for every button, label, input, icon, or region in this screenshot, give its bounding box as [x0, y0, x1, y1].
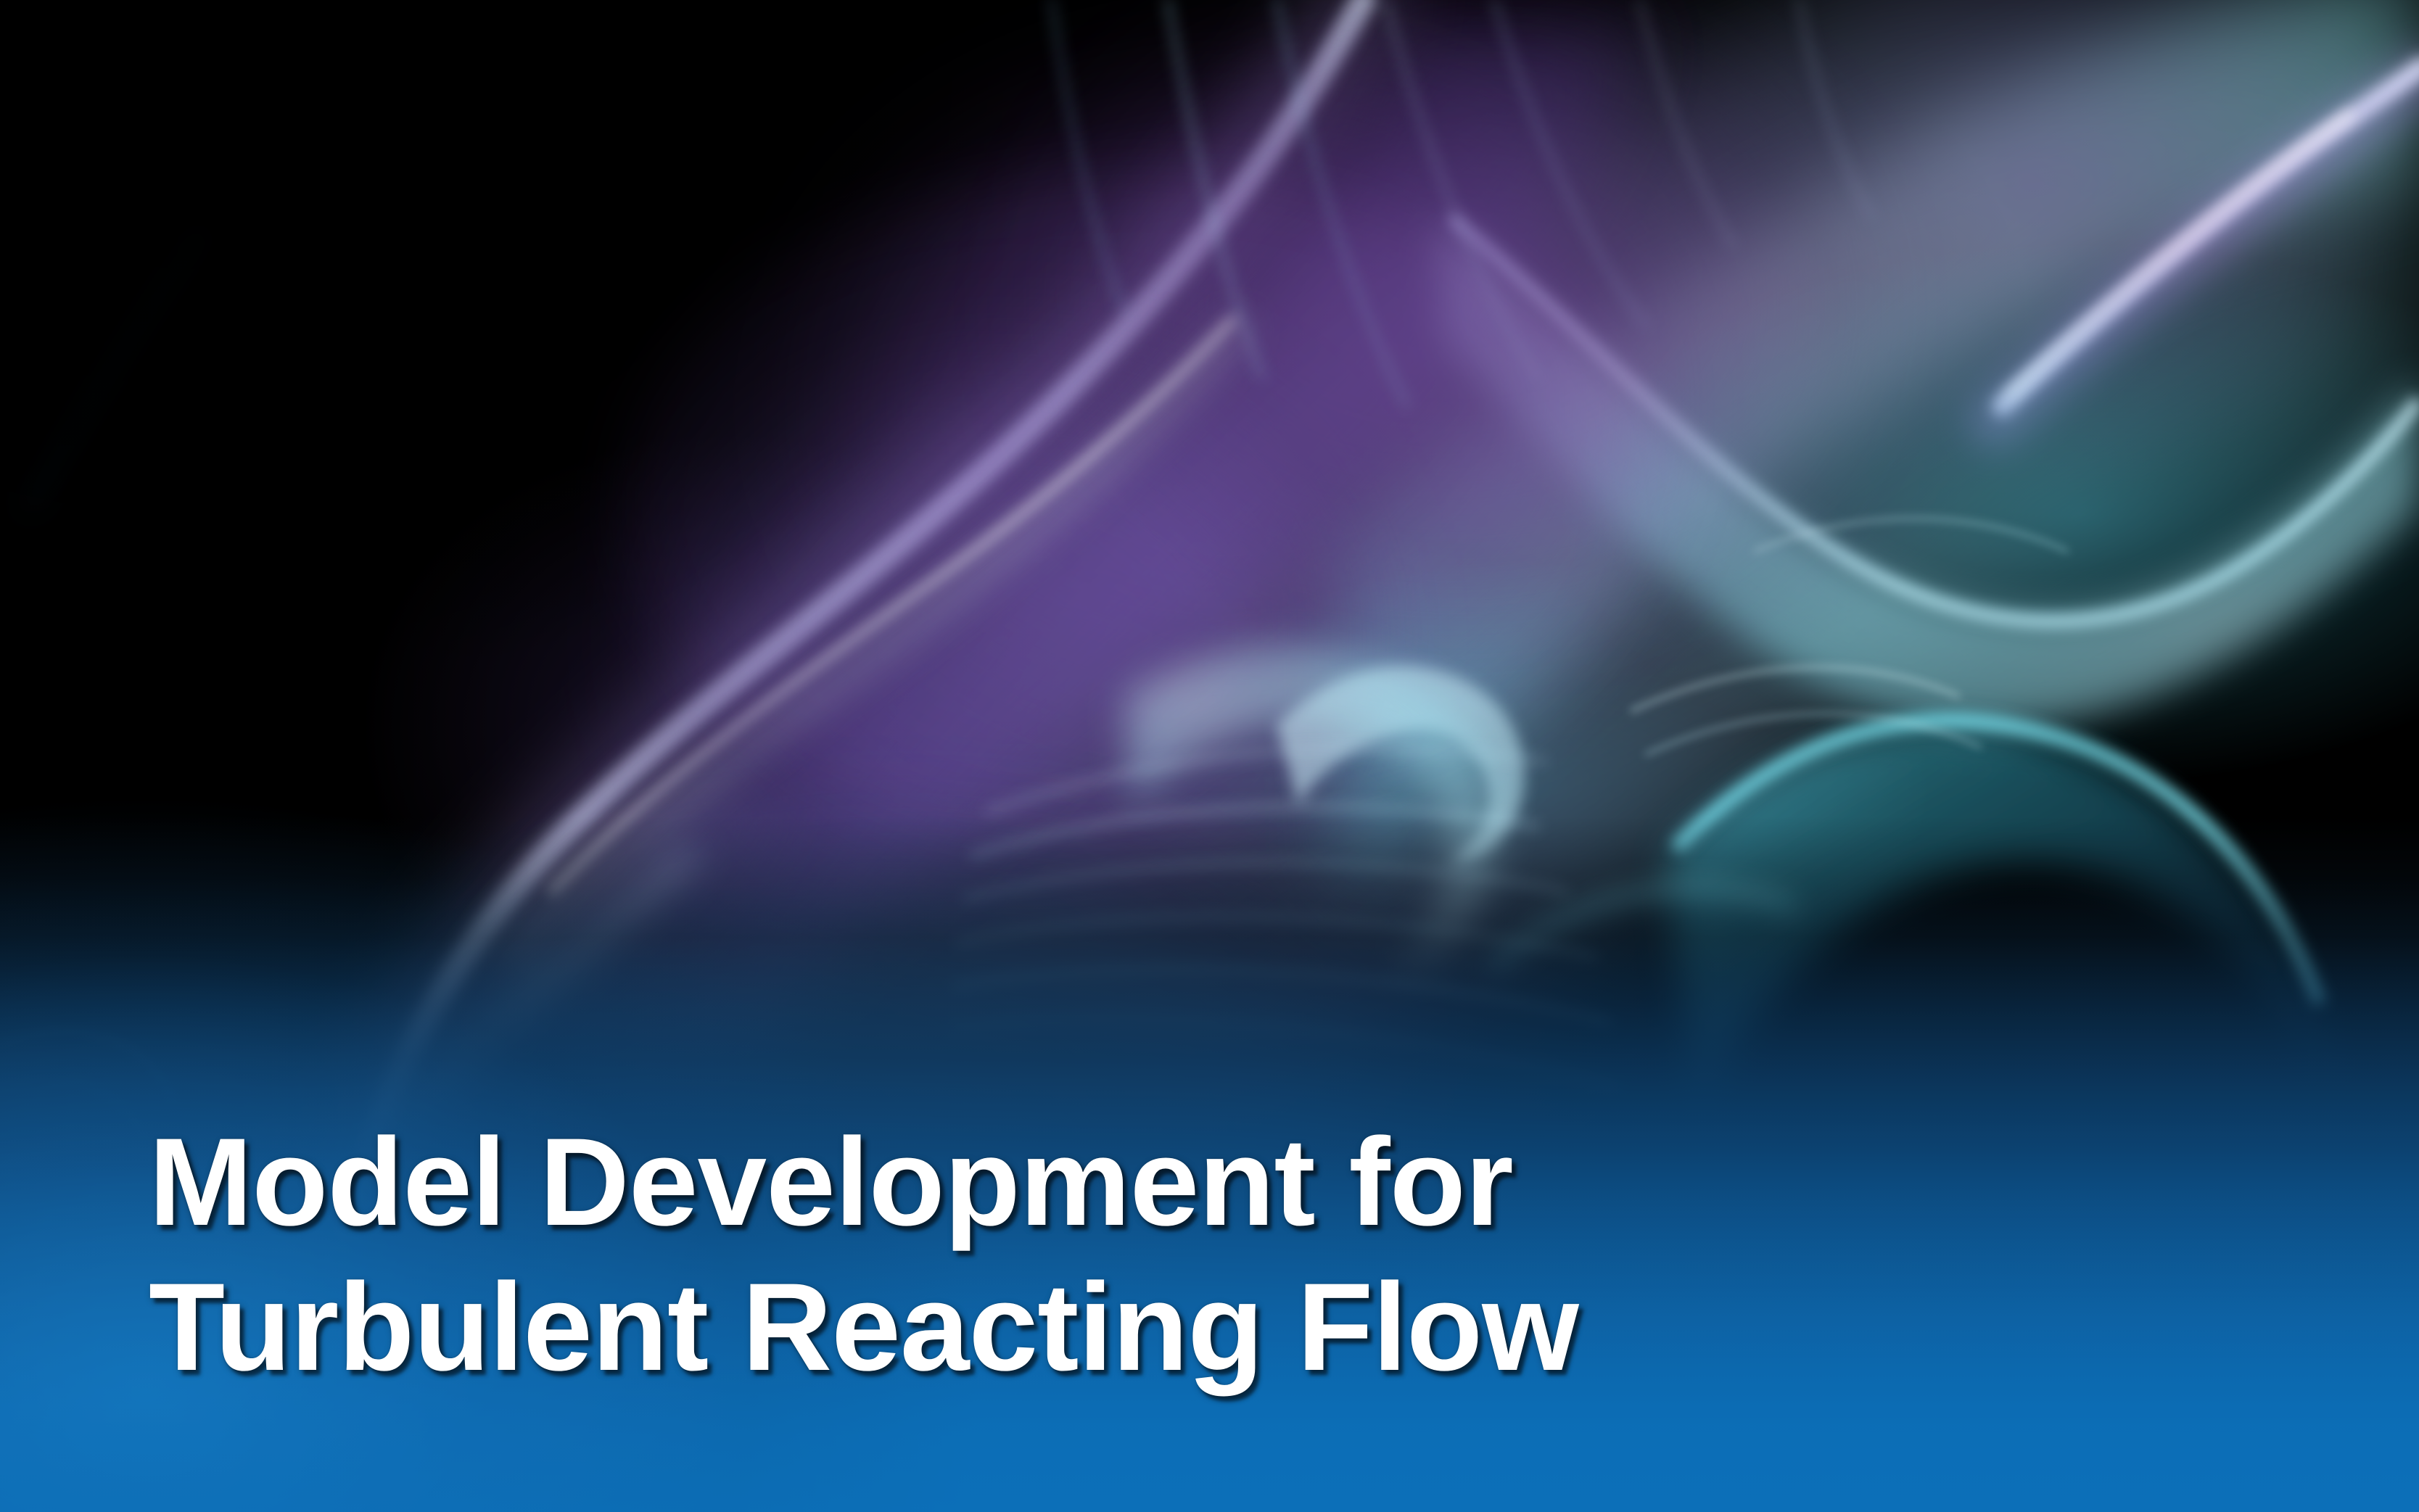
page-title: Model Development for Turbulent Reacting…: [149, 1110, 1817, 1400]
title-line-1: Model Development for: [149, 1110, 1817, 1255]
title-slide: Model Development for Turbulent Reacting…: [0, 0, 2419, 1512]
title-line-2: Turbulent Reacting Flow: [149, 1255, 1817, 1400]
